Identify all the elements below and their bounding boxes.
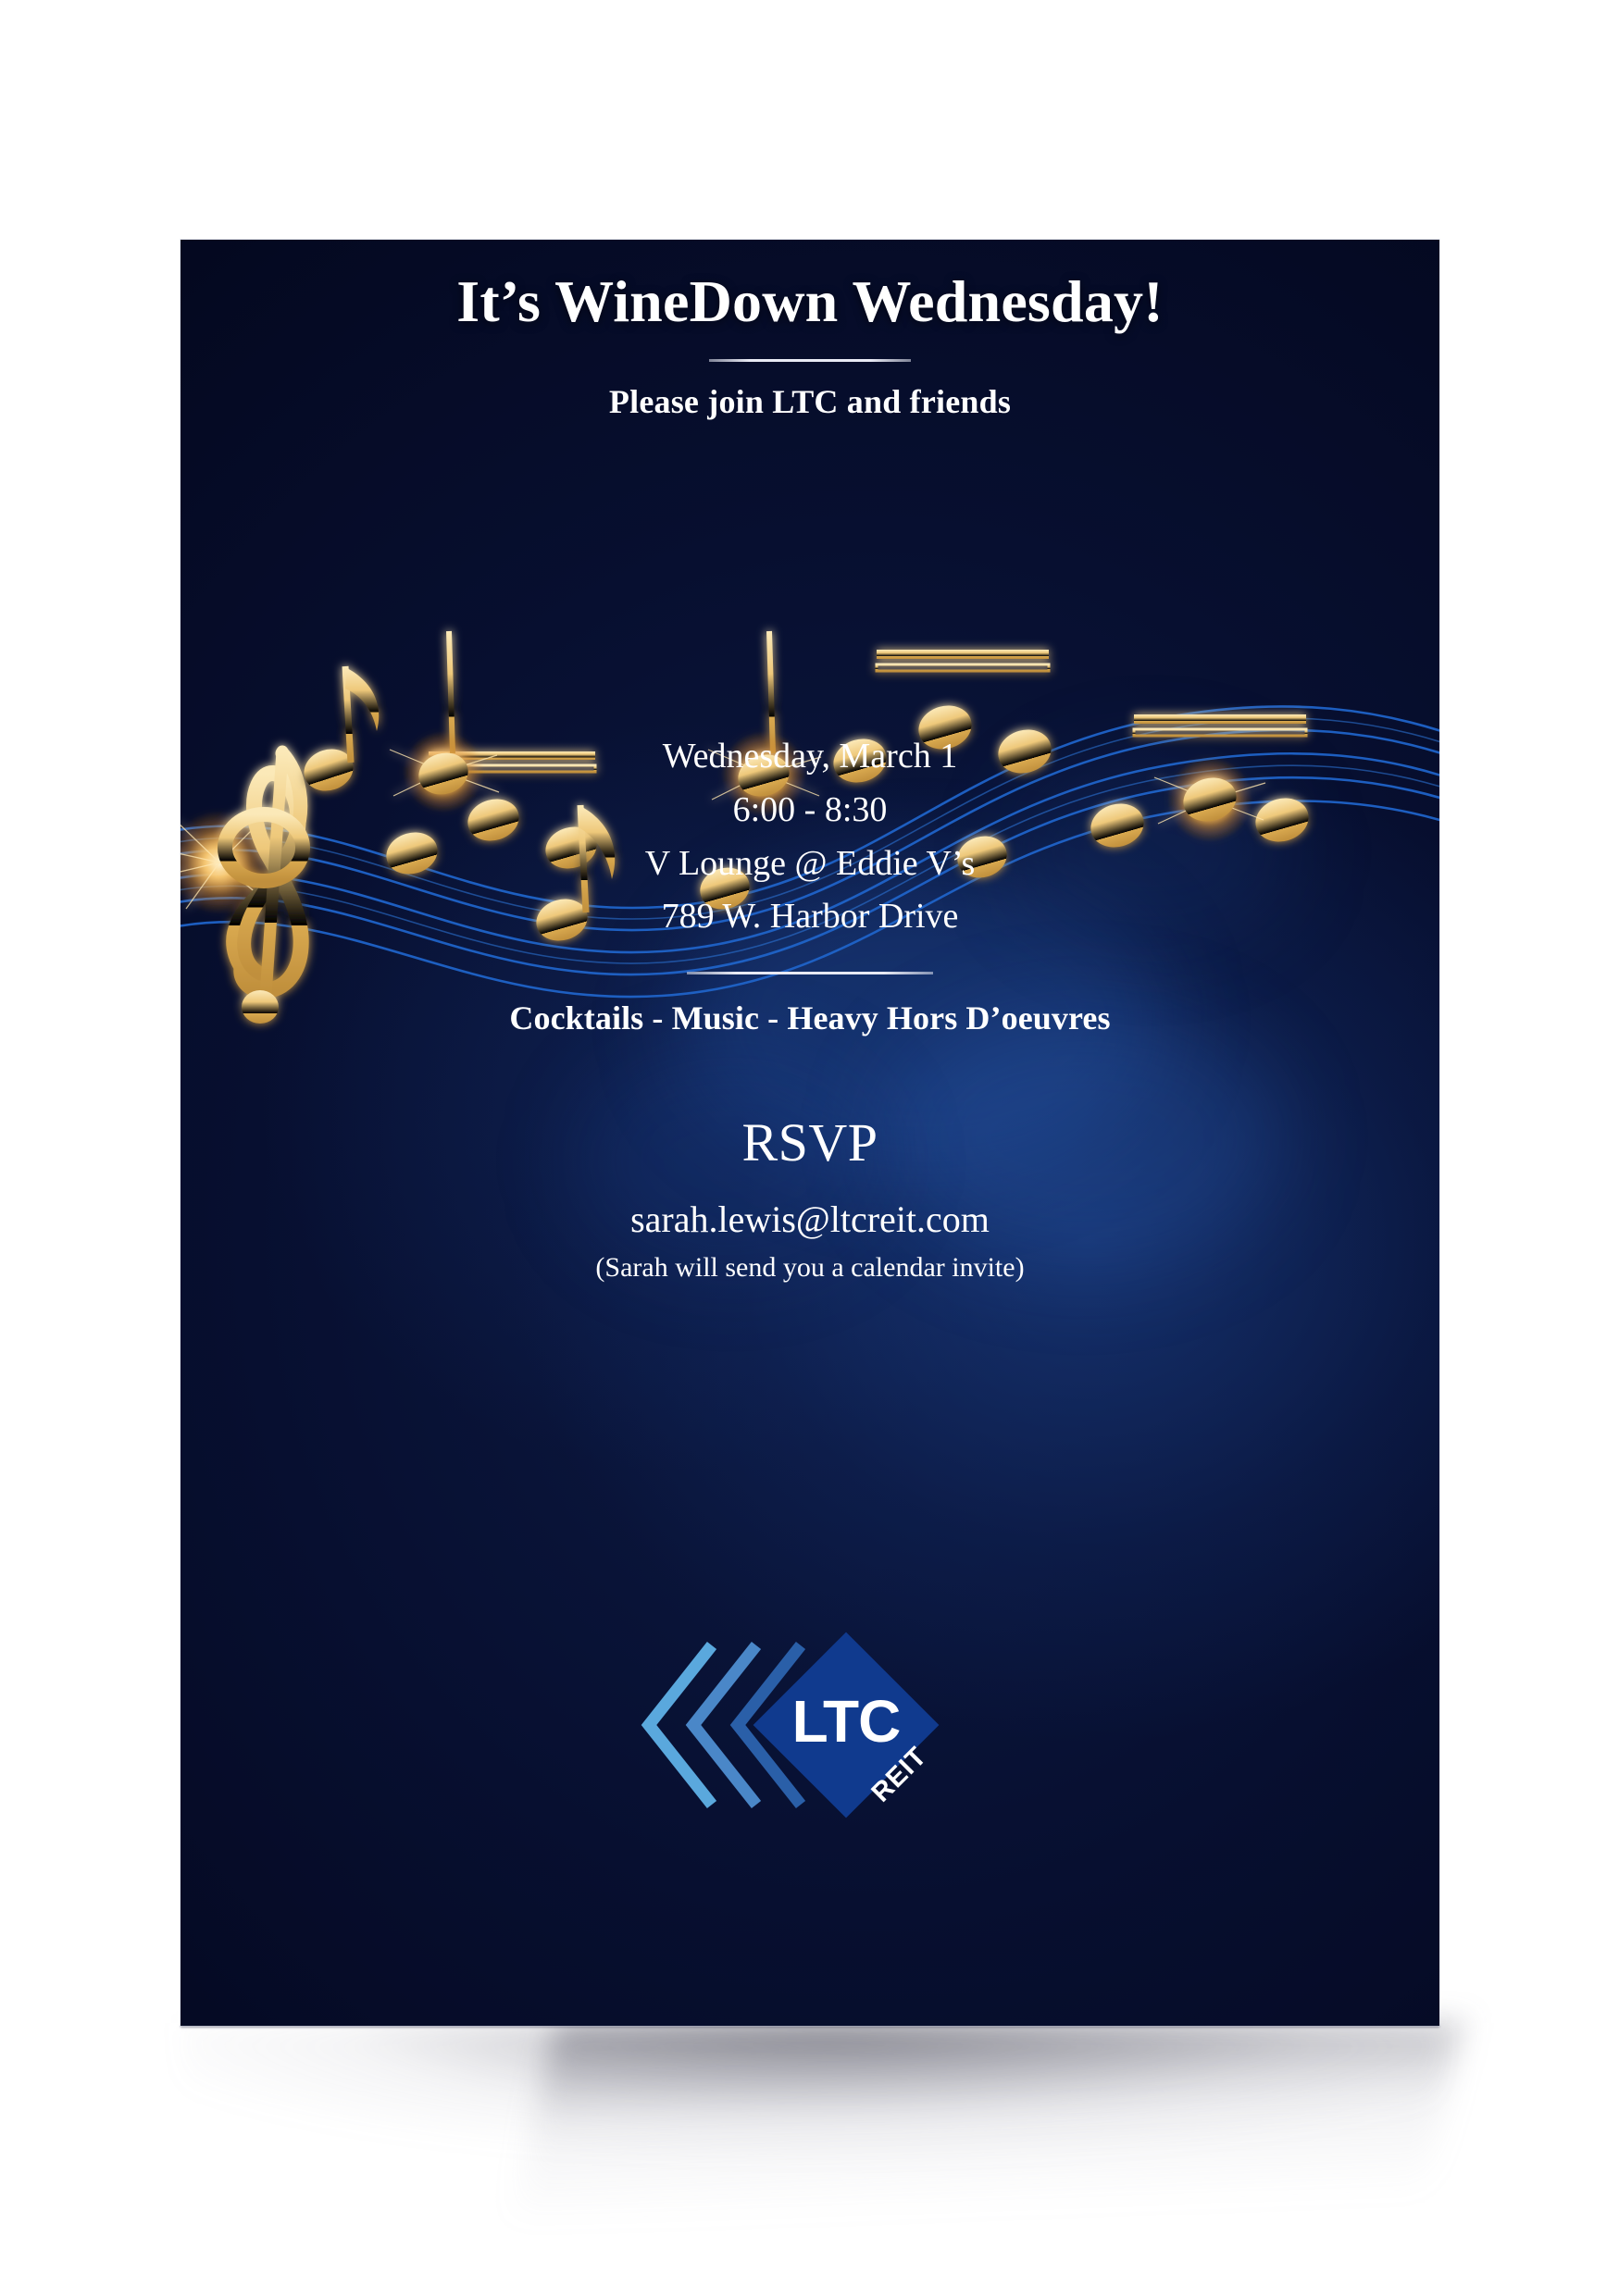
rsvp-note: (Sarah will send you a calendar invite) <box>181 1241 1439 1284</box>
logo-sub-text: REIT <box>866 1742 933 1808</box>
event-details: Wednesday, March 1 6:00 - 8:30 V Lounge … <box>181 421 1439 944</box>
logo-mark-text: LTC <box>792 1688 901 1755</box>
chevron-icon-inner <box>738 1645 801 1805</box>
logo-diamond-shape <box>753 1632 940 1818</box>
event-date: Wednesday, March 1 <box>181 730 1439 784</box>
event-time: 6:00 - 8:30 <box>181 784 1439 838</box>
menu-line: Cocktails - Music - Heavy Hors D’oeuvres <box>181 999 1439 1037</box>
card-drop-shadow <box>183 2023 1438 2162</box>
page-title: It’s WineDown Wednesday! <box>181 240 1439 333</box>
card-content: It’s WineDown Wednesday! Please join LTC… <box>181 240 1439 1284</box>
event-venue: V Lounge @ Eddie V’s <box>181 838 1439 891</box>
logo-container: LTC REIT <box>181 1632 1439 1827</box>
divider-middle <box>687 972 933 974</box>
ltc-reit-logo: LTC REIT <box>643 1632 977 1818</box>
rsvp-heading: RSVP <box>181 1037 1439 1173</box>
chevron-icon-outer <box>649 1645 712 1805</box>
divider-top <box>709 359 911 362</box>
chevron-icon-middle <box>693 1645 756 1805</box>
invitation-card: It’s WineDown Wednesday! Please join LTC… <box>181 240 1439 2026</box>
event-address: 789 W. Harbor Drive <box>181 890 1439 944</box>
card-subtitle: Please join LTC and friends <box>181 382 1439 421</box>
card-drop-shadow-angled <box>514 2023 1463 2217</box>
rsvp-email-link[interactable]: sarah.lewis@ltcreit.com <box>181 1173 1439 1241</box>
